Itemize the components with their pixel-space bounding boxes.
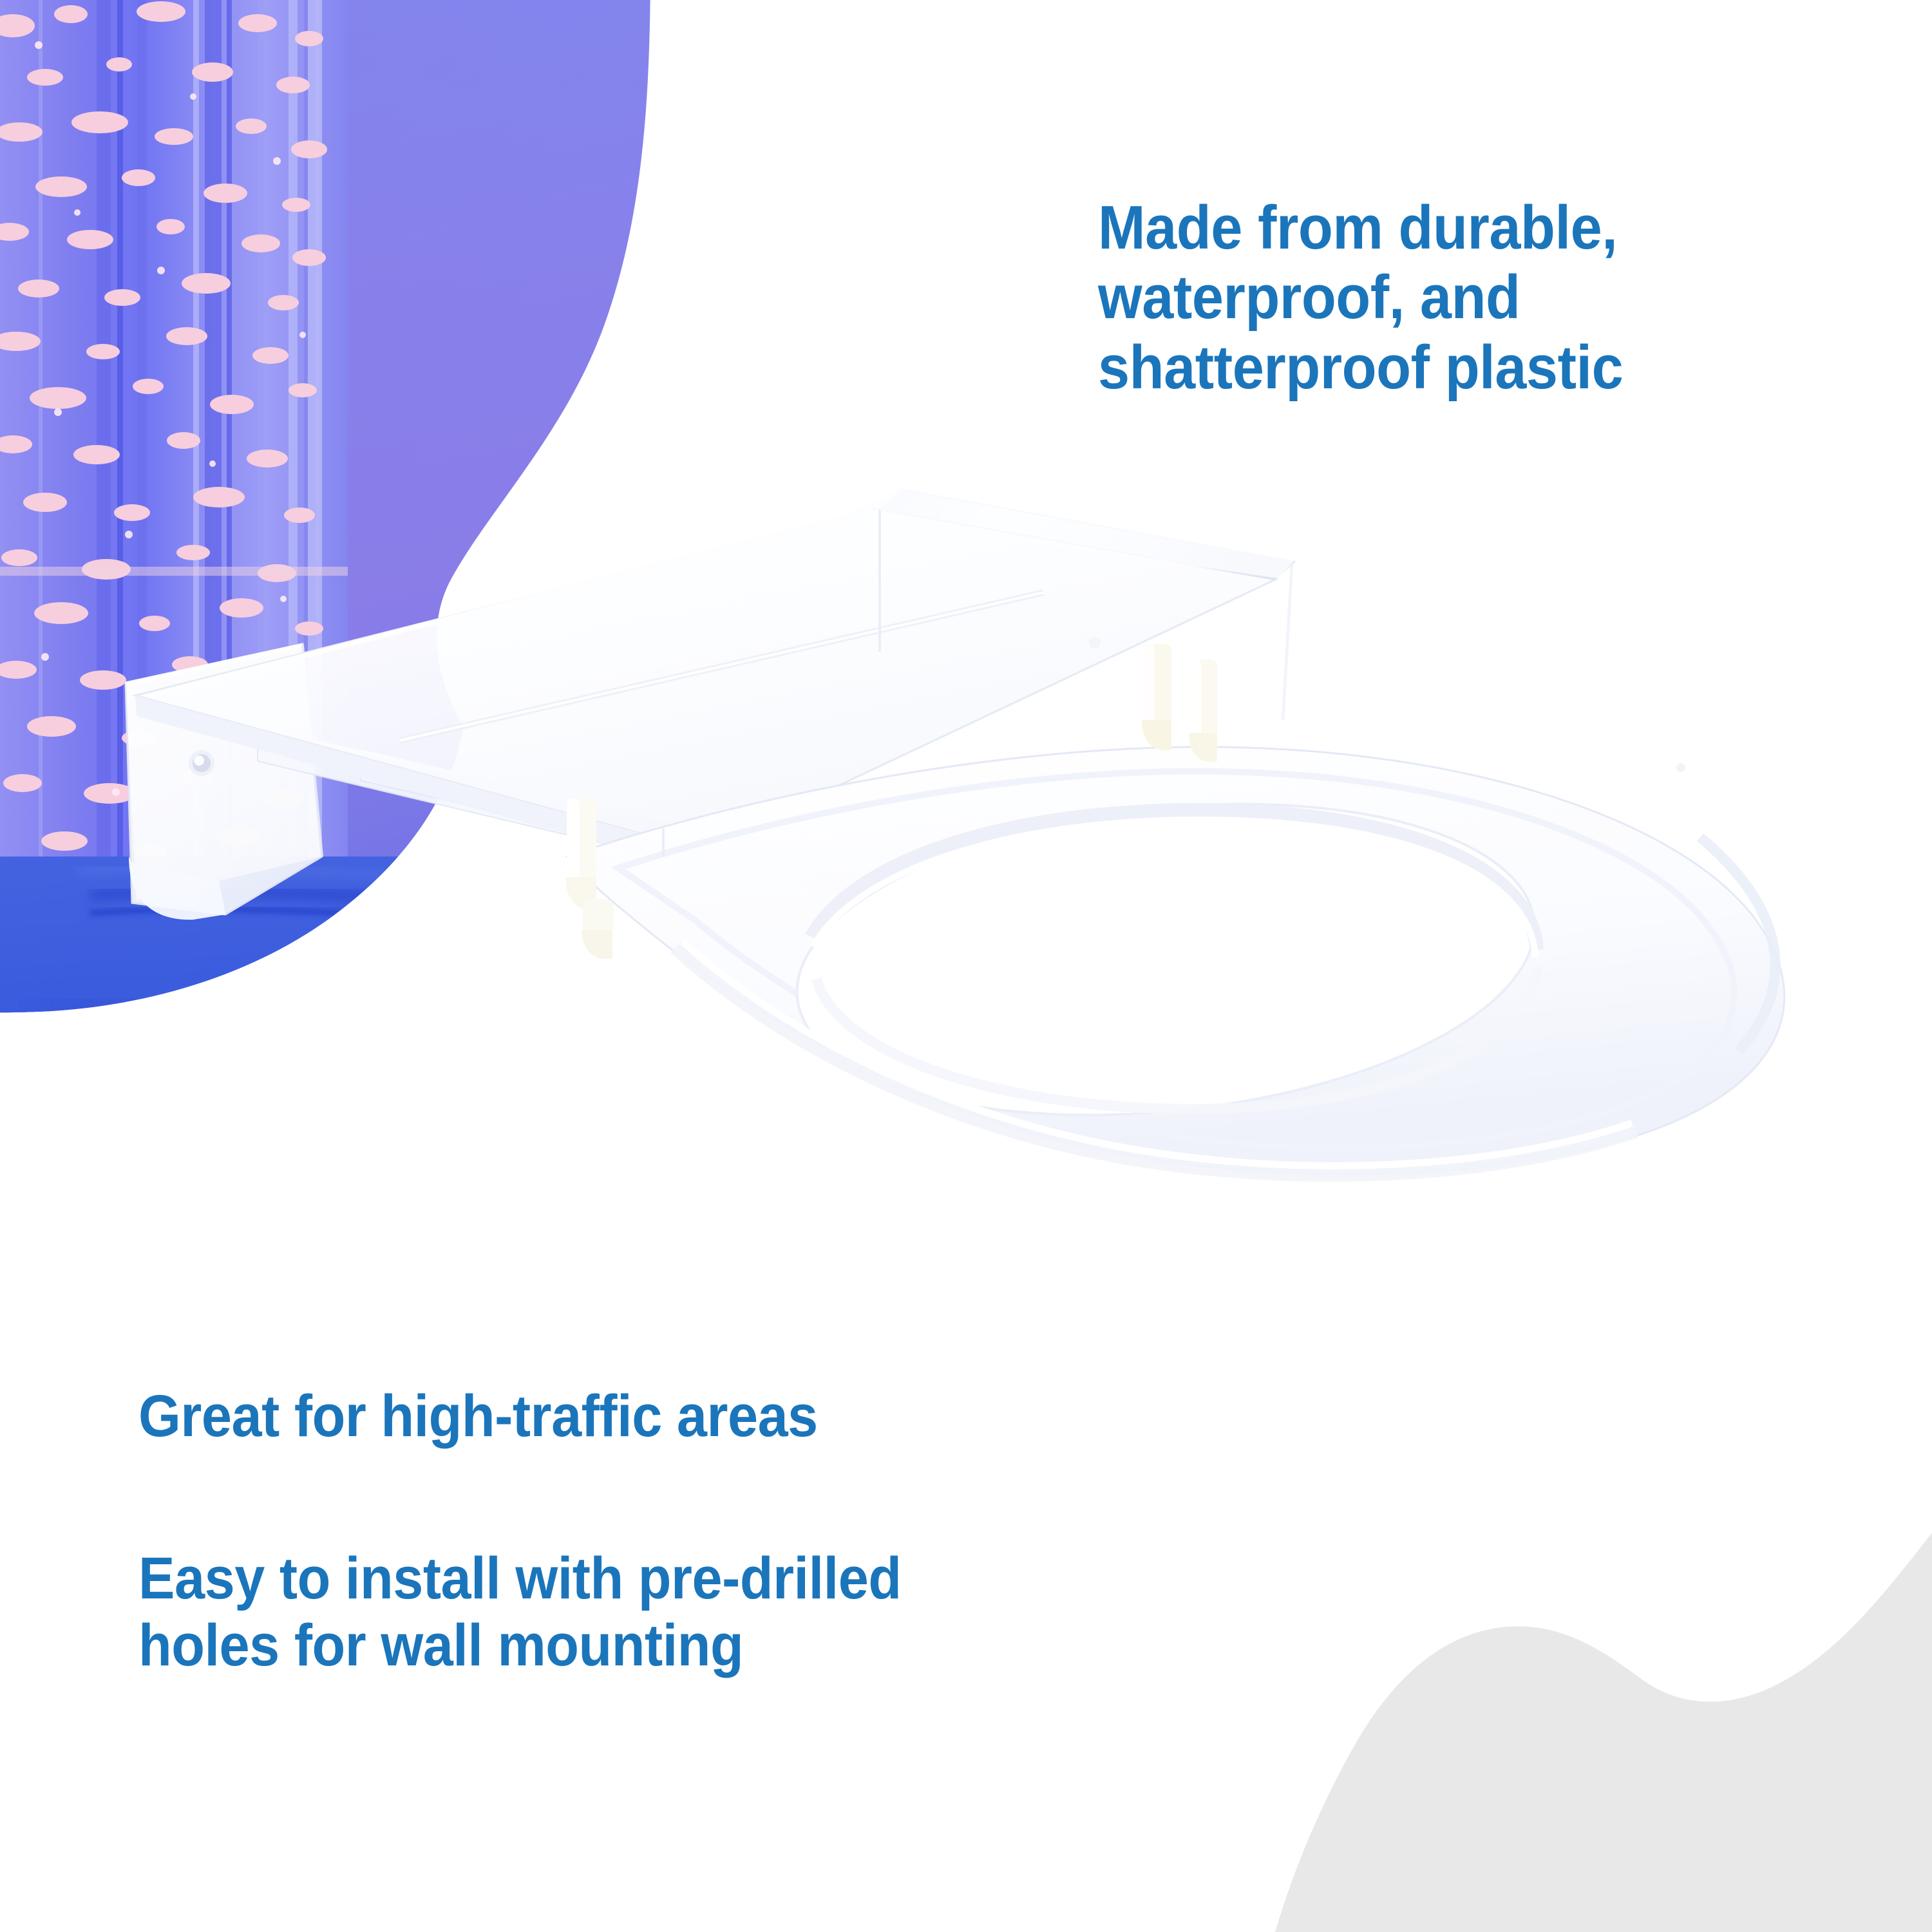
- decorative-grey-blob: [1082, 1507, 1932, 1932]
- floor-mat: [0, 857, 1481, 1224]
- feature-text-middle: Great for high-traffic areas: [138, 1383, 1027, 1450]
- feature-text-bottom: Easy to install with pre-drilled holes f…: [138, 1546, 1027, 1680]
- product-photo-svg: [0, 0, 1481, 1224]
- product-photo: [0, 0, 1481, 1224]
- marketing-card: Made from durable, waterproof, and shatt…: [0, 0, 1932, 1932]
- photo-scene: [0, 0, 1481, 1224]
- feature-text-top: Made from durable, waterproof, and shatt…: [1098, 193, 1809, 402]
